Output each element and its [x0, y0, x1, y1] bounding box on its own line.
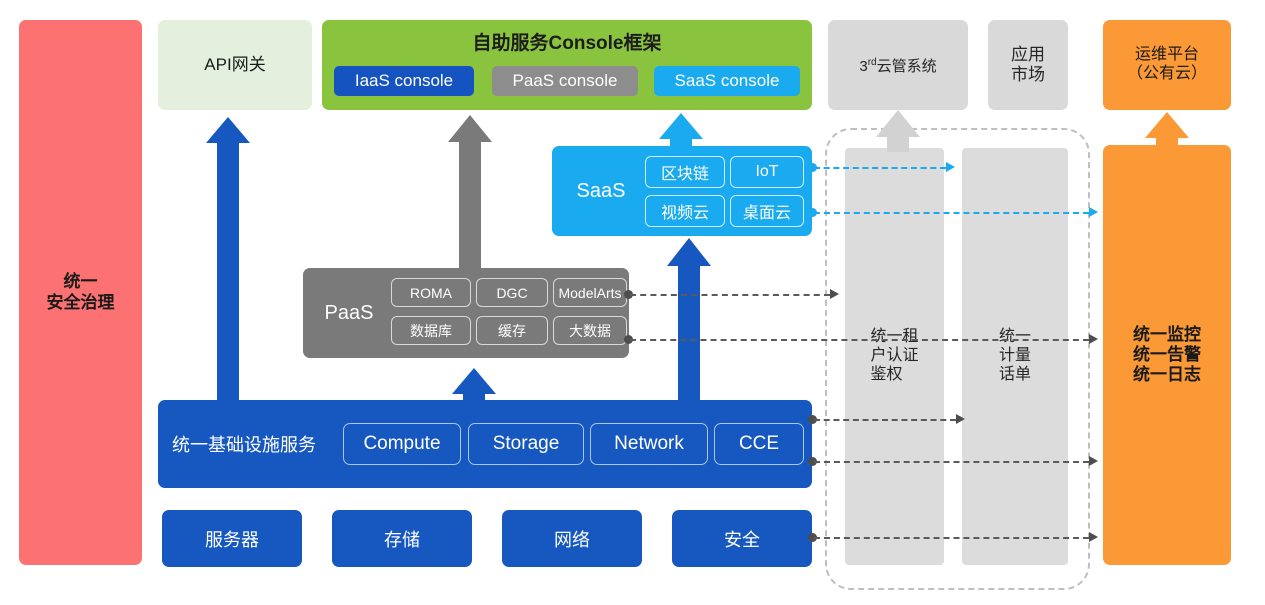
connector-arrow-infra-auth [956, 414, 965, 424]
architecture-diagram: 统一 安全治理 API网关 自助服务Console框架 IaaS console… [0, 0, 1265, 605]
connector-arrow-hardware-ops [1089, 532, 1098, 542]
arrow-infra-to-api-gateway [206, 117, 250, 400]
arrow-infra-to-saas [667, 238, 711, 400]
connector-arrow-saas-auth [946, 162, 955, 172]
connector-arrow-saas-ops [1089, 207, 1098, 217]
connector-arrow-infra-ops [1089, 456, 1098, 466]
connector-arrow-paas-ops [1089, 334, 1098, 344]
connector-paas-to-auth [630, 294, 830, 296]
arrow-saas-to-console [659, 113, 703, 146]
connector-paas-to-ops [630, 339, 1089, 341]
flow-arrows-layer [0, 0, 1265, 605]
arrow-infra-to-paas [452, 368, 496, 400]
arrow-shared-to-third-party [876, 110, 920, 152]
arrow-ops-stack-to-platform [1145, 112, 1189, 145]
connector-infra-to-auth [814, 419, 956, 421]
connector-saas-to-auth [814, 167, 946, 169]
connector-hardware-to-ops [814, 537, 1089, 539]
connector-arrow-paas-auth [830, 289, 839, 299]
arrow-paas-to-console [448, 115, 492, 268]
connector-saas-to-ops [814, 212, 1089, 214]
connector-infra-to-ops [814, 461, 1089, 463]
